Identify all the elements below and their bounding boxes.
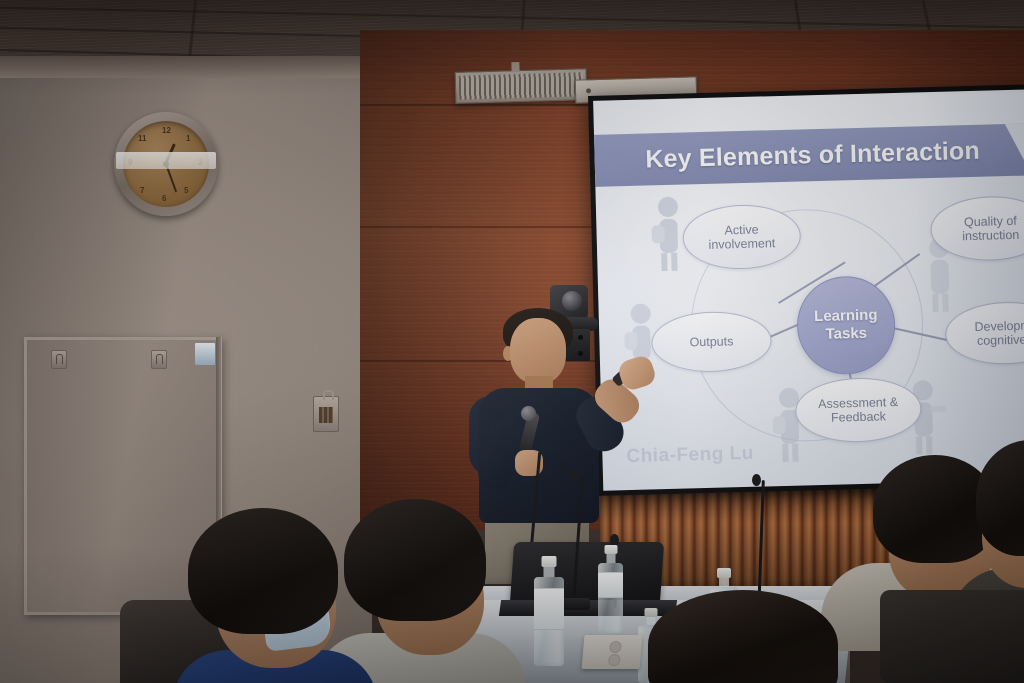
white-box[interactable] bbox=[582, 635, 643, 669]
cabinet-sticker bbox=[195, 343, 215, 365]
chair-right[interactable] bbox=[880, 590, 1024, 683]
audience-hair bbox=[648, 590, 838, 683]
presenter-head bbox=[510, 318, 566, 384]
table-microphone-3-head bbox=[752, 474, 761, 486]
cabinet-latch-right[interactable] bbox=[151, 350, 167, 369]
wall-clock: 12 1 3 5 6 7 9 11 bbox=[114, 112, 218, 216]
audience-hair bbox=[188, 508, 338, 634]
wall-cornice bbox=[0, 56, 372, 78]
panel-hook bbox=[323, 390, 334, 400]
cabinet-latch-left[interactable] bbox=[51, 350, 67, 369]
speaker-mesh bbox=[459, 72, 584, 99]
audience-member-back-center bbox=[648, 590, 838, 683]
audience-hair bbox=[344, 499, 486, 621]
table-microphone-1-head bbox=[569, 470, 578, 482]
housing-button bbox=[586, 88, 591, 93]
wall-control-panel[interactable] bbox=[313, 396, 339, 432]
speaker-stem bbox=[511, 62, 519, 72]
water-bottle-2[interactable] bbox=[598, 545, 623, 633]
audience-member-front-left bbox=[178, 500, 358, 683]
panel-grille bbox=[319, 407, 333, 423]
microphone-head-icon bbox=[521, 406, 536, 421]
laptop-lid[interactable] bbox=[510, 542, 664, 604]
ceiling-speaker bbox=[455, 68, 588, 104]
water-bottle-1[interactable] bbox=[534, 556, 564, 666]
lecture-room-scene: 12 1 3 5 6 7 9 11 Key Elements of Int bbox=[0, 0, 1024, 683]
